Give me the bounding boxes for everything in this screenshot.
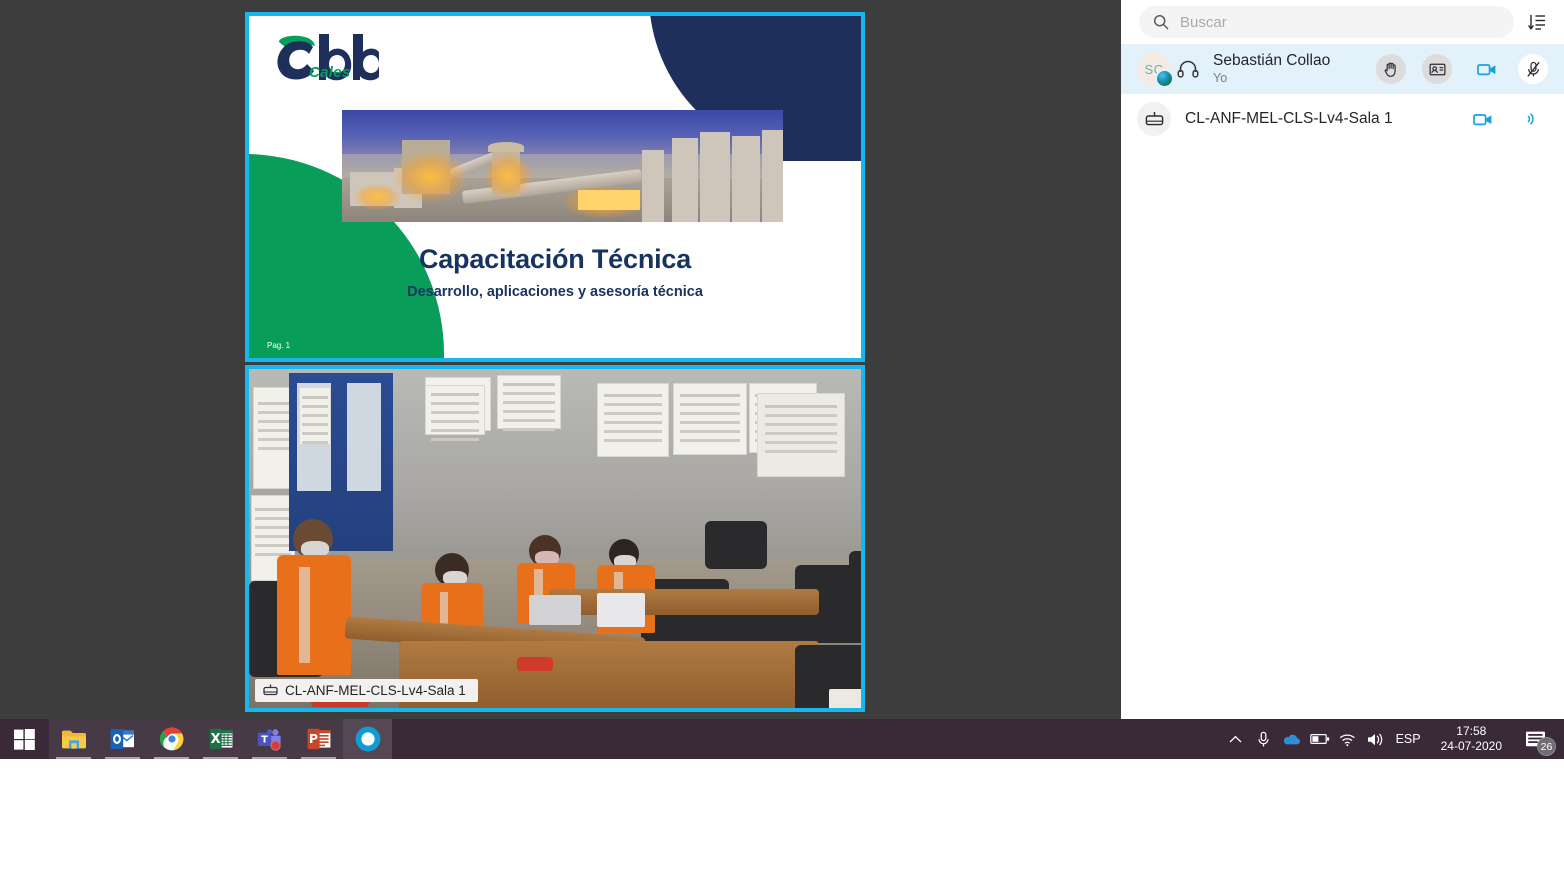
action-center-button[interactable]: 26: [1512, 719, 1558, 759]
room-device-icon: [263, 684, 278, 697]
search-input[interactable]: Buscar: [1139, 6, 1514, 38]
windows-logo-icon: [14, 729, 35, 750]
participant-subtitle: Yo: [1213, 70, 1360, 86]
video-camera-icon: [1477, 62, 1497, 77]
speaker-icon: [1367, 732, 1385, 747]
video-participant-pane[interactable]: CL-ANF-MEL-CLS-Lv4-Sala 1: [245, 365, 865, 712]
presence-badge-icon: [1155, 69, 1174, 88]
microphone-toggle-button[interactable]: [1518, 54, 1548, 84]
taskbar-microsoft-teams[interactable]: T: [245, 719, 294, 759]
start-button[interactable]: [0, 719, 49, 759]
webcam-video: CL-ANF-MEL-CLS-Lv4-Sala 1: [249, 369, 861, 708]
excel-icon: X: [209, 728, 233, 750]
taskbar-file-explorer[interactable]: [49, 719, 98, 759]
cloud-icon: [1282, 733, 1301, 746]
svg-text:X: X: [210, 732, 220, 747]
tray-language-indicator[interactable]: ESP: [1390, 732, 1431, 746]
taskbar-spacer: [392, 719, 1222, 759]
powerpoint-icon: P: [307, 728, 331, 750]
outlook-icon: [110, 728, 135, 750]
system-tray: ESP 17:58 24-07-2020 26: [1222, 719, 1564, 759]
battery-icon: [1310, 733, 1330, 745]
shared-content-pane[interactable]: Cales: [245, 12, 865, 362]
windows-taskbar: X T: [0, 719, 1564, 759]
cbb-logo-subtext: Cales: [309, 64, 351, 81]
participant-actions: [1360, 54, 1548, 84]
screen-root: Cales: [0, 0, 1564, 879]
chrome-icon: [160, 727, 184, 751]
taskbar-excel[interactable]: X: [196, 719, 245, 759]
taskbar-webex[interactable]: [343, 719, 392, 759]
sort-participants-button[interactable]: [1524, 9, 1550, 35]
folder-icon: [61, 728, 87, 750]
search-placeholder: Buscar: [1180, 14, 1227, 31]
plant-photo: [342, 110, 783, 222]
room-device-icon: [1145, 111, 1164, 128]
participant-name-block: CL-ANF-MEL-CLS-Lv4-Sala 1: [1185, 110, 1448, 128]
tray-onedrive[interactable]: [1278, 719, 1306, 759]
participant-row-room-device[interactable]: CL-ANF-MEL-CLS-Lv4-Sala 1: [1121, 94, 1564, 144]
headset-icon: [1177, 60, 1199, 78]
slide-page-number: Pag. 1: [267, 341, 290, 350]
participants-panel: Buscar SC: [1121, 0, 1564, 719]
tray-microphone[interactable]: [1250, 719, 1278, 759]
video-label-text: CL-ANF-MEL-CLS-Lv4-Sala 1: [285, 683, 466, 698]
video-camera-icon: [1473, 112, 1493, 127]
video-participant-label: CL-ANF-MEL-CLS-Lv4-Sala 1: [255, 679, 478, 702]
svg-text:T: T: [261, 734, 268, 745]
svg-text:P: P: [308, 731, 317, 746]
audio-status-button[interactable]: [1518, 104, 1548, 134]
taskbar-outlook[interactable]: [98, 719, 147, 759]
teams-icon: T: [257, 728, 282, 751]
slide-subtitle: Desarrollo, aplicaciones y asesoría técn…: [249, 284, 861, 300]
clock-time: 17:58: [1441, 724, 1502, 739]
presentation-slide: Cales: [249, 16, 861, 358]
participants-search-row: Buscar: [1121, 0, 1564, 44]
tray-battery[interactable]: [1306, 719, 1334, 759]
sort-descending-icon: [1527, 12, 1547, 32]
microphone-muted-icon: [1525, 61, 1542, 78]
wifi-icon: [1339, 732, 1356, 747]
avatar: [1137, 102, 1171, 136]
tray-clock[interactable]: 17:58 24-07-2020: [1431, 724, 1512, 754]
video-toggle-button[interactable]: [1468, 104, 1498, 134]
video-toggle-button[interactable]: [1472, 54, 1502, 84]
participant-name: CL-ANF-MEL-CLS-Lv4-Sala 1: [1185, 110, 1448, 128]
participant-row-sebastian-collao[interactable]: SC Sebastián Collao Yo: [1121, 44, 1564, 94]
notification-count-badge: 26: [1537, 737, 1556, 756]
webex-icon: [355, 726, 381, 752]
taskbar-apps: X T: [0, 719, 392, 759]
microphone-icon: [1256, 731, 1271, 748]
raise-hand-button[interactable]: [1376, 54, 1406, 84]
audio-waves-icon: [1525, 111, 1541, 127]
participant-name-block: Sebastián Collao Yo: [1213, 52, 1360, 86]
search-icon: [1153, 14, 1169, 30]
avatar: SC: [1137, 52, 1171, 86]
taskbar-powerpoint[interactable]: P: [294, 719, 343, 759]
tray-overflow-button[interactable]: [1222, 719, 1250, 759]
raise-hand-icon: [1383, 61, 1400, 78]
taskbar-chrome[interactable]: [147, 719, 196, 759]
participant-name: Sebastián Collao: [1213, 52, 1360, 70]
slide-green-corner-fill: [249, 198, 279, 358]
slide-title: Capacitación Técnica: [249, 244, 861, 275]
contact-card-button[interactable]: [1422, 54, 1452, 84]
tray-network[interactable]: [1334, 719, 1362, 759]
tray-volume[interactable]: [1362, 719, 1390, 759]
meeting-stage: Cales: [0, 0, 1121, 719]
participant-actions: [1448, 104, 1548, 134]
contact-card-icon: [1429, 61, 1446, 78]
clock-date: 24-07-2020: [1441, 739, 1502, 754]
chevron-up-icon: [1229, 735, 1242, 744]
